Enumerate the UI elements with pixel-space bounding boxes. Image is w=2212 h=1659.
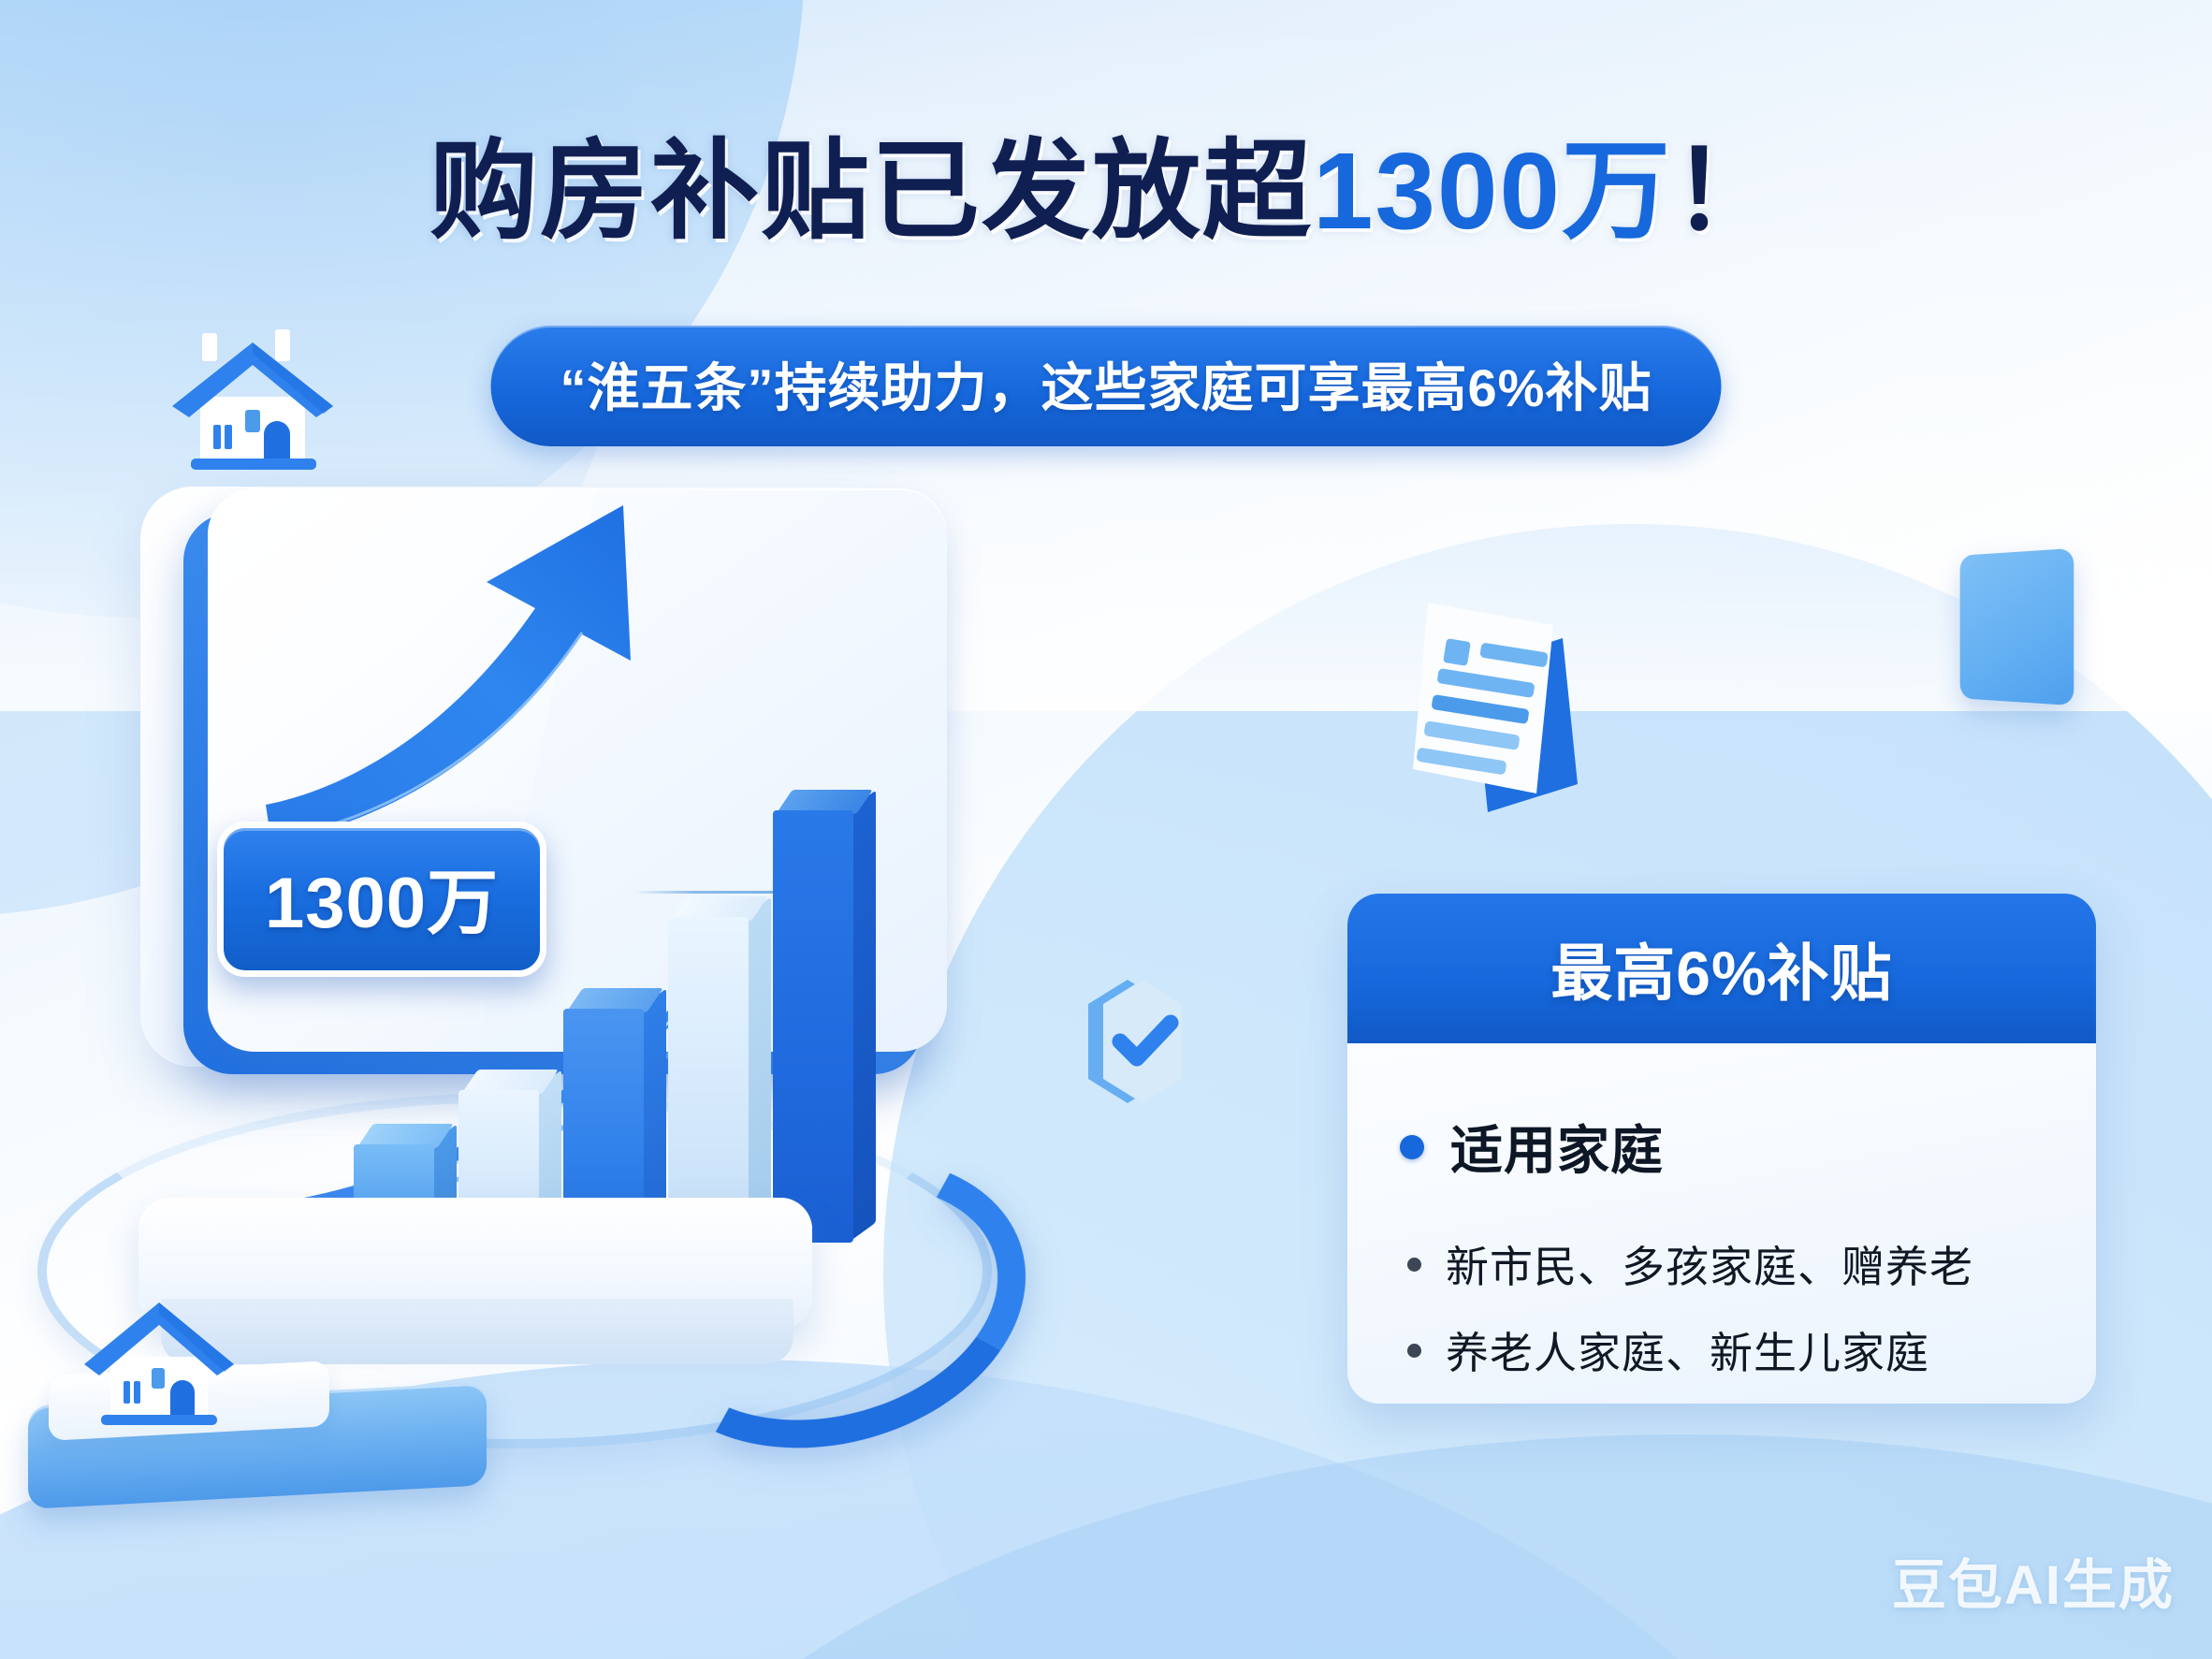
- subtitle-text: “淮五条”持续助力，这些家庭可享最高6%补贴: [560, 346, 1652, 422]
- bar-4: [668, 917, 749, 1243]
- page-title: 购房补贴已发放超1300万！: [0, 103, 2212, 260]
- card-header: 最高6%补贴: [1347, 894, 2096, 1043]
- card-body: 适用家庭 新市民、多孩家庭、赠养老 养老人家庭、新生儿家庭: [1347, 1043, 2096, 1404]
- house-icon: [73, 1291, 241, 1441]
- infographic-stage: 购房补贴已发放超1300万！ “淮五条”持续助力，这些家庭可享最高6%补贴: [0, 0, 2212, 1659]
- eligibility-card: 最高6%补贴 适用家庭 新市民、多孩家庭、赠养老 养老人家庭、新生儿家庭: [1347, 894, 2096, 1404]
- shield-check-icon: [1071, 968, 1212, 1116]
- list-item-label: 养老人家庭、新生儿家庭: [1446, 1319, 1929, 1381]
- card-header-title: 最高6%补贴: [1550, 924, 1892, 1013]
- headline-unit: 万: [1562, 130, 1672, 252]
- bullet-dot-icon: [1407, 1258, 1421, 1272]
- bar-face: [773, 810, 853, 1243]
- headline-number: 1300: [1313, 130, 1562, 252]
- card-lead-text: 适用家庭: [1450, 1109, 1664, 1185]
- bar-side: [747, 897, 771, 1241]
- bar-chart: [354, 793, 878, 1243]
- list-item: 新市民、多孩家庭、赠养老: [1407, 1233, 2044, 1295]
- illustration-scene: 1300万: [0, 468, 1198, 1516]
- list-item: 养老人家庭、新生儿家庭: [1407, 1319, 2044, 1381]
- headline-prefix: 购房补贴已发放超: [429, 130, 1313, 252]
- house-icon: [159, 327, 346, 487]
- bar-side: [851, 791, 876, 1241]
- bullet-dot-icon: [1407, 1344, 1421, 1358]
- watermark: 豆包AI生成: [1892, 1541, 2175, 1620]
- subtitle-banner: “淮五条”持续助力，这些家庭可享最高6%补贴: [491, 326, 1722, 446]
- list-item-label: 新市民、多孩家庭、赠养老: [1446, 1233, 1973, 1295]
- card-lead-row: 适用家庭: [1400, 1109, 2044, 1185]
- headline-exclamation: ！: [1672, 130, 1783, 252]
- bar-5: [773, 810, 853, 1243]
- pedestal-front: [161, 1299, 793, 1364]
- bar-face: [668, 917, 749, 1243]
- bullet-dot-icon: [1400, 1135, 1424, 1159]
- floating-panel-icon: [1960, 548, 2074, 706]
- document-icon: [1375, 582, 1609, 816]
